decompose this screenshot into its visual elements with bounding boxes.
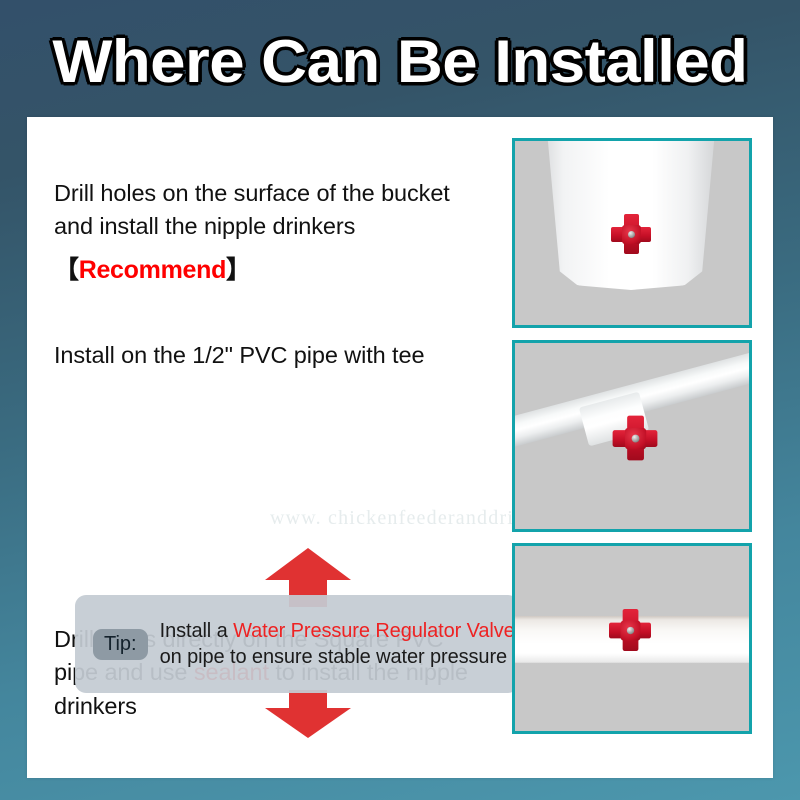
nipple-pin (627, 627, 634, 634)
photo-bucket (512, 138, 752, 328)
tip-badge: Tip: (93, 629, 148, 660)
tip-line-1-highlight: Water Pressure Regulator Valve (233, 620, 515, 642)
tip-text: Install a Water Pressure Regulator Valve… (160, 618, 515, 671)
photo-square-pvc (512, 543, 752, 734)
nipple-drinker-icon (613, 416, 658, 461)
photo-pvc-tee (512, 340, 752, 532)
title-bar: Where Can Be Installed (0, 0, 800, 117)
recommend-badge: 【Recommend】 (54, 250, 251, 286)
content-card: Drill holes on the surface of the bucket… (27, 117, 773, 778)
poster-root: Where Can Be Installed Drill holes on th… (0, 0, 800, 800)
arrow-down-icon (265, 690, 351, 738)
arrow-down-shaft (289, 690, 327, 710)
arrow-up-head (265, 548, 351, 580)
step-1-text: Drill holes on the surface of the bucket… (54, 177, 494, 244)
tip-box: Tip: Install a Water Pressure Regulator … (75, 595, 519, 693)
tip-line-2: on pipe to ensure stable water pressure (160, 646, 507, 668)
tip-line-1-prefix: Install a (160, 620, 233, 642)
arrow-down-head (265, 708, 351, 738)
nipple-drinker-icon (609, 609, 651, 651)
recommend-bracket-close: 】 (226, 256, 251, 284)
nipple-pin (628, 231, 635, 238)
nipple-pin (632, 435, 640, 443)
step-2-text: Install on the 1/2" PVC pipe with tee (54, 339, 454, 372)
recommend-bracket-open: 【 (54, 256, 79, 284)
nipple-drinker-icon (611, 214, 651, 254)
recommend-label: Recommend (79, 256, 226, 284)
page-title: Where Can Be Installed (52, 26, 747, 92)
text-column: Drill holes on the surface of the bucket… (27, 117, 497, 778)
